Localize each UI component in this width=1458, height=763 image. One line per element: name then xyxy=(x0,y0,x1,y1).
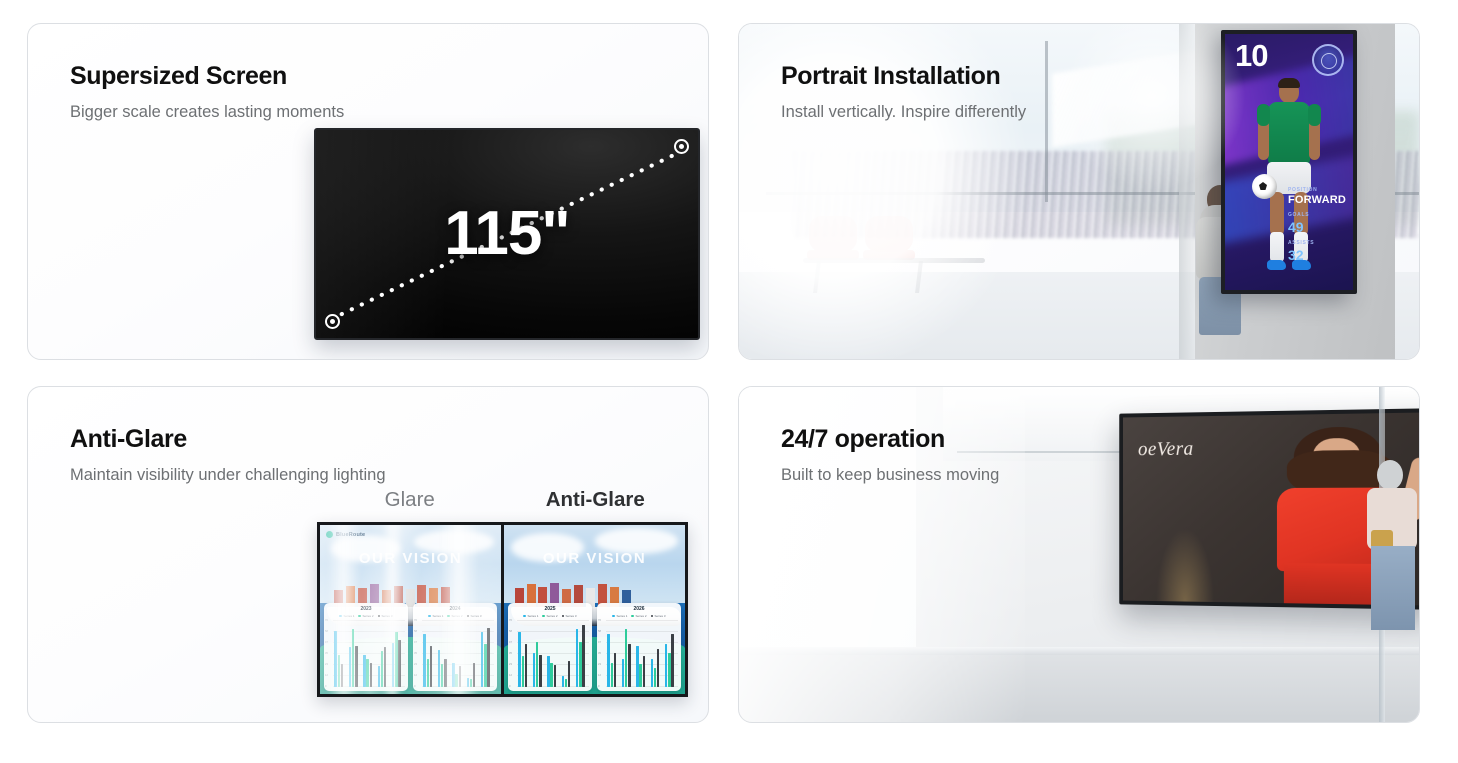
bar xyxy=(565,679,567,687)
lens-flare-secondary xyxy=(1038,24,1269,238)
bar xyxy=(657,649,659,687)
glare-comparison-panel: OUR VISION BlueRoute 2023Series 1Series … xyxy=(317,522,688,697)
y-axis-tick-label: 12 xyxy=(598,674,601,677)
y-axis-tick-label: 35 xyxy=(414,652,417,655)
dashboard-charts-row: 2025Series 1Series 2Series 3012233547587… xyxy=(508,603,681,691)
bar xyxy=(484,644,486,687)
card-header: Portrait Installation Install vertically… xyxy=(781,62,1026,124)
legend-swatch-icon xyxy=(542,615,545,618)
bar xyxy=(423,634,425,687)
legend-swatch-icon xyxy=(562,615,565,618)
y-axis-tick-label: 70 xyxy=(509,619,512,622)
bar xyxy=(539,655,541,687)
chart-plot-area: 0122335475870 xyxy=(517,621,589,687)
bar xyxy=(576,629,578,687)
bar xyxy=(568,661,570,687)
bar-group xyxy=(423,621,432,687)
chart-card: 2026Series 1Series 2Series 3012233547587… xyxy=(597,603,681,691)
legend-item: Series 2 xyxy=(542,614,557,618)
bar xyxy=(636,646,638,687)
bar xyxy=(525,644,527,687)
legend-swatch-icon xyxy=(378,615,381,618)
legend-item: Series 3 xyxy=(651,614,666,618)
panel-half-glare: OUR VISION BlueRoute 2023Series 1Series … xyxy=(320,525,504,694)
screen-size-label: 115" xyxy=(316,203,698,265)
bar xyxy=(622,659,624,687)
y-axis-tick-label: 12 xyxy=(414,674,417,677)
y-axis-tick-label: 23 xyxy=(598,663,601,666)
y-axis-tick-label: 47 xyxy=(598,641,601,644)
y-axis-tick-label: 35 xyxy=(598,652,601,655)
decorative-foliage xyxy=(1141,457,1231,603)
mannequin xyxy=(1365,460,1419,630)
bar xyxy=(481,632,483,687)
bar xyxy=(370,663,372,687)
glare-reflection-band xyxy=(439,525,479,694)
bar xyxy=(625,629,627,687)
position-label: POSITION xyxy=(1288,187,1346,195)
bar xyxy=(628,644,630,687)
feature-card-anti-glare[interactable]: Anti-Glare Maintain visibility under cha… xyxy=(27,386,709,723)
feature-card-grid: Supersized Screen Bigger scale creates l… xyxy=(27,23,1420,740)
bar xyxy=(562,676,564,687)
y-axis-tick-label: 58 xyxy=(598,630,601,633)
bar xyxy=(427,659,429,687)
bar xyxy=(639,664,641,687)
card-header: Anti-Glare Maintain visibility under cha… xyxy=(70,425,386,487)
legend-swatch-icon xyxy=(651,615,654,618)
bar-group xyxy=(533,621,542,687)
assists-value: 32 xyxy=(1288,248,1346,263)
card-header: 24/7 operation Built to keep business mo… xyxy=(781,425,999,487)
card-subtitle: Bigger scale creates lasting moments xyxy=(70,102,344,124)
glare-reflection-band xyxy=(327,525,360,694)
bar-group xyxy=(363,621,372,687)
bar xyxy=(536,642,538,687)
y-axis-tick-label: 47 xyxy=(414,641,417,644)
y-axis-tick-label: 58 xyxy=(509,630,512,633)
y-axis-tick-label: 0 xyxy=(325,685,326,688)
signage-content-anti-glare: OUR VISION 2025Series 1Series 2Series 30… xyxy=(504,525,685,694)
bar xyxy=(582,625,584,687)
card-header: Supersized Screen Bigger scale creates l… xyxy=(70,62,344,124)
feature-card-24-7-operation[interactable]: oeVera 24/7 operation Built to keep busi… xyxy=(738,386,1420,723)
bar xyxy=(579,642,581,687)
bar xyxy=(550,663,552,687)
bar-group xyxy=(636,621,645,687)
label-anti-glare: Anti-Glare xyxy=(503,488,689,512)
measure-endpoint-top-right-icon xyxy=(674,139,689,154)
bar-group xyxy=(607,621,616,687)
bar-group xyxy=(481,621,490,687)
chart-title: 2025 xyxy=(511,607,589,612)
card-subtitle: Built to keep business moving xyxy=(781,465,999,487)
y-axis-tick-label: 0 xyxy=(598,685,599,688)
glare-reflection-band xyxy=(382,525,404,694)
y-axis-tick-label: 23 xyxy=(414,663,417,666)
feature-card-supersized-screen[interactable]: Supersized Screen Bigger scale creates l… xyxy=(27,23,709,360)
y-axis-tick-label: 35 xyxy=(509,652,512,655)
y-axis-tick-label: 47 xyxy=(509,641,512,644)
chart-plot-area: 0122335475870 xyxy=(606,621,678,687)
feature-card-portrait-installation[interactable]: 10 POSITION F xyxy=(738,23,1420,360)
legend-item: Series 1 xyxy=(523,614,538,618)
page-title: 24/7 operation xyxy=(781,425,999,454)
bar xyxy=(671,634,673,687)
y-axis-tick-label: 0 xyxy=(509,685,510,688)
bar-group xyxy=(547,621,556,687)
bar xyxy=(554,665,556,687)
bar xyxy=(533,653,535,687)
league-badge-icon xyxy=(1312,44,1344,76)
bar xyxy=(643,656,645,687)
bar-group xyxy=(665,621,674,687)
tv-diagonal-diagram: 115" xyxy=(314,128,700,340)
bar-group xyxy=(562,621,571,687)
bar-group xyxy=(576,621,585,687)
comparison-labels: Glare Anti-Glare xyxy=(317,488,688,512)
bar xyxy=(378,666,380,687)
page-title: Portrait Installation xyxy=(781,62,1026,91)
bar xyxy=(651,659,653,687)
legend-swatch-icon xyxy=(523,615,526,618)
legend-swatch-icon xyxy=(428,615,431,618)
legend-item: Series 1 xyxy=(612,614,627,618)
chart-legend: Series 1Series 2Series 3 xyxy=(600,614,678,618)
goals-value: 49 xyxy=(1288,220,1346,235)
ad-brand-name: oeVera xyxy=(1138,438,1194,461)
panel-half-anti-glare: OUR VISION 2025Series 1Series 2Series 30… xyxy=(504,525,685,694)
label-glare: Glare xyxy=(317,488,503,512)
tv-screen: 115" xyxy=(314,128,700,340)
bar xyxy=(522,656,524,687)
page-title: Anti-Glare xyxy=(70,425,386,454)
bar xyxy=(518,632,520,687)
chart-card: 2025Series 1Series 2Series 3012233547587… xyxy=(508,603,592,691)
y-axis-tick-label: 70 xyxy=(414,619,417,622)
bar xyxy=(366,659,368,687)
bar-group xyxy=(518,621,527,687)
bar xyxy=(363,655,365,687)
bar xyxy=(487,628,489,687)
bar xyxy=(430,646,432,687)
legend-item: Series 2 xyxy=(631,614,646,618)
bar xyxy=(611,663,613,687)
bar xyxy=(654,668,656,687)
y-axis-tick-label: 70 xyxy=(598,619,601,622)
y-axis-tick-label: 58 xyxy=(414,630,417,633)
bar-group xyxy=(622,621,631,687)
chart-title: 2026 xyxy=(600,607,678,612)
player-stats: POSITION FORWARD GOALS 49 ASSISTS 32 xyxy=(1288,187,1346,268)
page-title: Supersized Screen xyxy=(70,62,344,91)
y-axis-tick-label: 23 xyxy=(509,663,512,666)
y-axis-tick-label: 0 xyxy=(414,685,415,688)
position-value: FORWARD xyxy=(1288,194,1346,206)
bar xyxy=(607,634,609,687)
measure-endpoint-bottom-left-icon xyxy=(325,314,340,329)
legend-swatch-icon xyxy=(631,615,634,618)
legend-item: Series 3 xyxy=(562,614,577,618)
card-subtitle: Maintain visibility under challenging li… xyxy=(70,465,386,487)
headline-our-vision: OUR VISION xyxy=(504,550,685,567)
bar xyxy=(665,644,667,687)
legend-swatch-icon xyxy=(612,615,615,618)
bar xyxy=(668,653,670,687)
legend-item: Series 2 xyxy=(358,614,373,618)
bar xyxy=(547,656,549,687)
y-axis-tick-label: 12 xyxy=(509,674,512,677)
bar-group xyxy=(651,621,660,687)
card-subtitle: Install vertically. Inspire differently xyxy=(781,102,1026,124)
bar xyxy=(614,653,616,687)
chart-legend: Series 1Series 2Series 3 xyxy=(511,614,589,618)
